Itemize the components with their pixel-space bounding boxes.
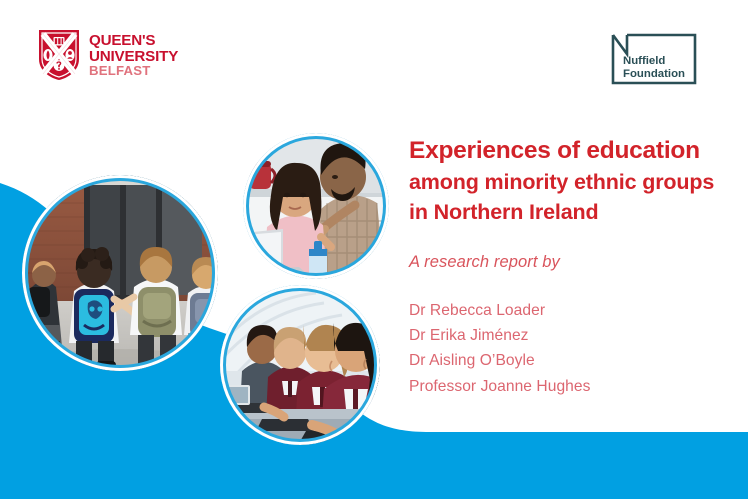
photo-students-at-computers [220,285,380,445]
photo-father-and-daughter-laptop [243,133,389,279]
cover-text-block: Experiences of education among minority … [409,136,729,399]
nuffield-text-line2: Foundation [623,68,685,80]
qub-line-university: UNIVERSITY [89,49,178,65]
qub-wordmark: QUEEN'S UNIVERSITY BELFAST [89,32,178,78]
list-item: Dr Rebecca Loader [409,298,729,323]
nuffield-text-line1: Nuffield [623,55,665,67]
photo-children-walking-to-school [22,175,218,371]
page-title-line-2: among minority ethnic groups [409,167,729,198]
nuffield-foundation-logo: Nuffield Foundation [610,32,698,86]
report-subtitle: A research report by [409,253,729,272]
page-title-line-1: Experiences of education [409,136,729,167]
list-item: Dr Aisling O’Boyle [409,348,729,373]
qub-shield-crest-icon [38,29,80,81]
list-item: Dr Erika Jiménez [409,323,729,348]
queens-university-belfast-logo: QUEEN'S UNIVERSITY BELFAST [38,29,178,81]
page-title-line-3: in Northern Ireland [409,197,729,228]
author-list: Dr Rebecca Loader Dr Erika Jiménez Dr Ai… [409,298,729,399]
report-cover-page: QUEEN'S UNIVERSITY BELFAST Nuffield Foun… [0,0,748,499]
qub-line-queens: QUEEN'S [89,33,178,49]
list-item: Professor Joanne Hughes [409,374,729,399]
qub-line-belfast: BELFAST [89,64,178,78]
